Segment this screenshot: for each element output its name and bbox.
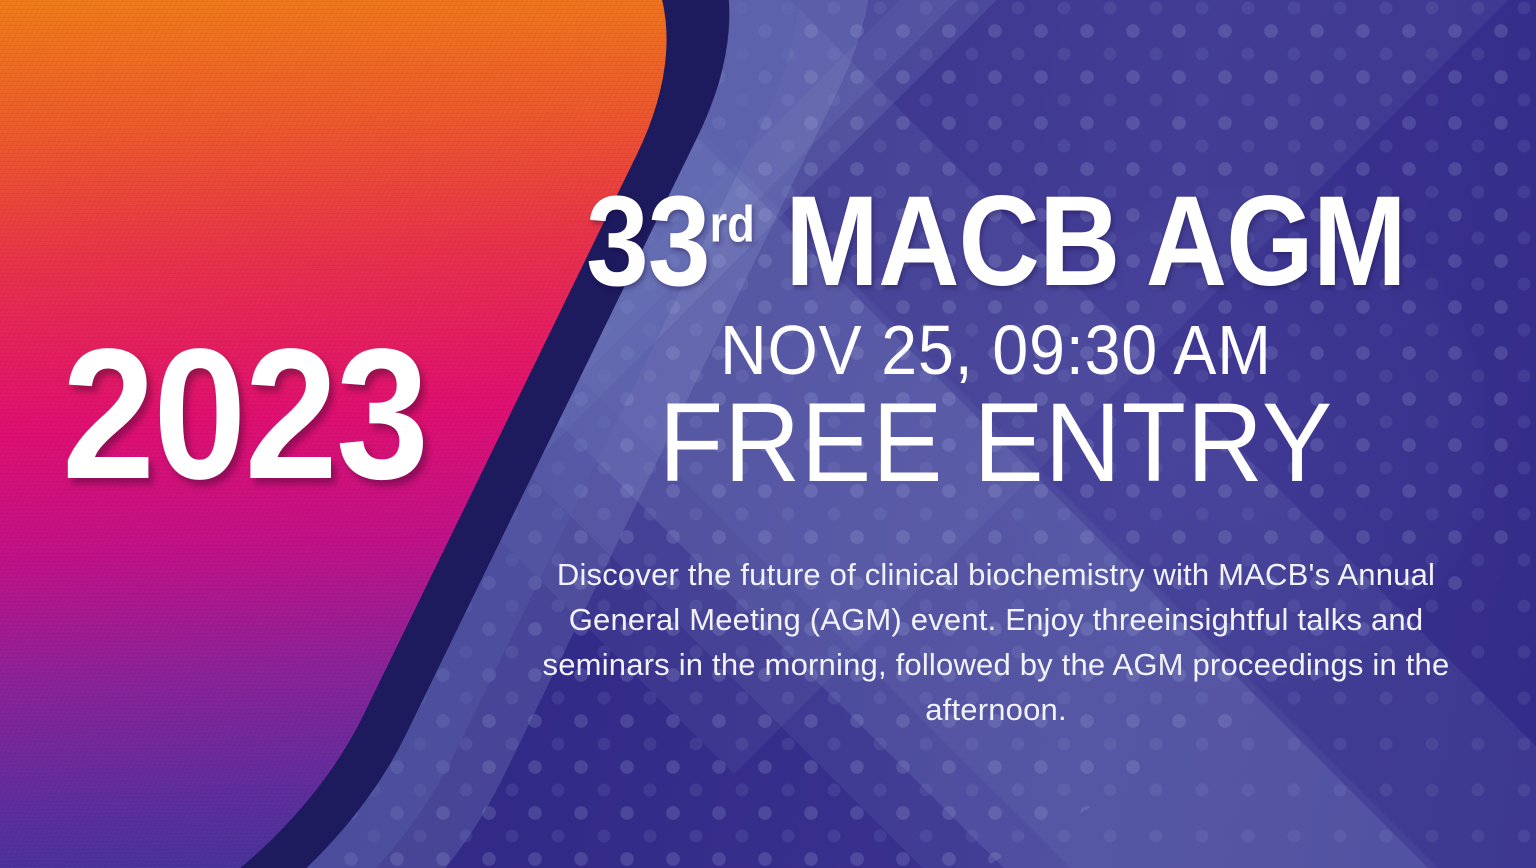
event-entry-label: FREE ENTRY (530, 386, 1462, 500)
event-datetime: NOV 25, 09:30 AM (540, 314, 1453, 388)
banner-copy: 33rd MACB AGM NOV 25, 09:30 AM FREE ENTR… (500, 178, 1492, 733)
event-banner: 2023 33rd MACB AGM NOV 25, 09:30 AM FREE… (0, 0, 1536, 868)
event-title-rest: MACB AGM (785, 170, 1406, 313)
event-title-number: 33 (586, 170, 710, 313)
event-description: Discover the future of clinical biochemi… (520, 552, 1472, 733)
event-year: 2023 (62, 322, 427, 508)
event-title: 33rd MACB AGM (560, 178, 1433, 306)
event-title-ordinal: rd (710, 195, 755, 252)
